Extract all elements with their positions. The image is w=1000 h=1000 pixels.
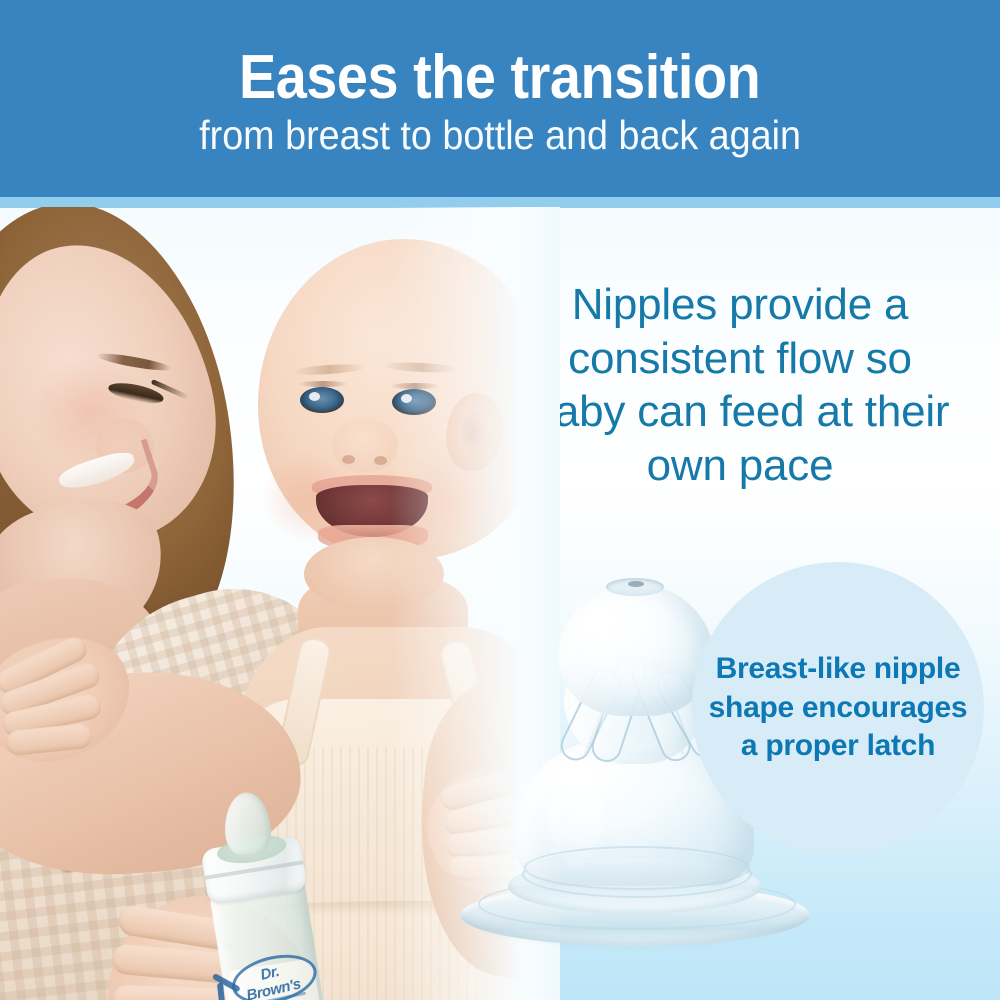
promo-poster: Eases the transition from breast to bott… (0, 0, 1000, 1000)
feature-description: Nipples provide a consistent flow so bab… (520, 278, 960, 493)
callout-badge: Breast-like nipple shape encourages a pr… (692, 562, 984, 854)
baby-eye-left (300, 387, 344, 413)
product-flow-hole (628, 581, 644, 587)
page-title: Eases the transition (239, 46, 760, 109)
product-base-edge (524, 846, 750, 890)
header-band: Eases the transition from breast to bott… (0, 0, 1000, 197)
callout-text: Breast-like nipple shape encourages a pr… (692, 650, 984, 765)
page-subtitle: from breast to bottle and back again (199, 114, 801, 157)
baby-nostril-right (374, 456, 387, 465)
product-bulb-highlight (580, 602, 614, 676)
baby-nostril-left (342, 455, 355, 464)
baby-nose (332, 419, 398, 473)
